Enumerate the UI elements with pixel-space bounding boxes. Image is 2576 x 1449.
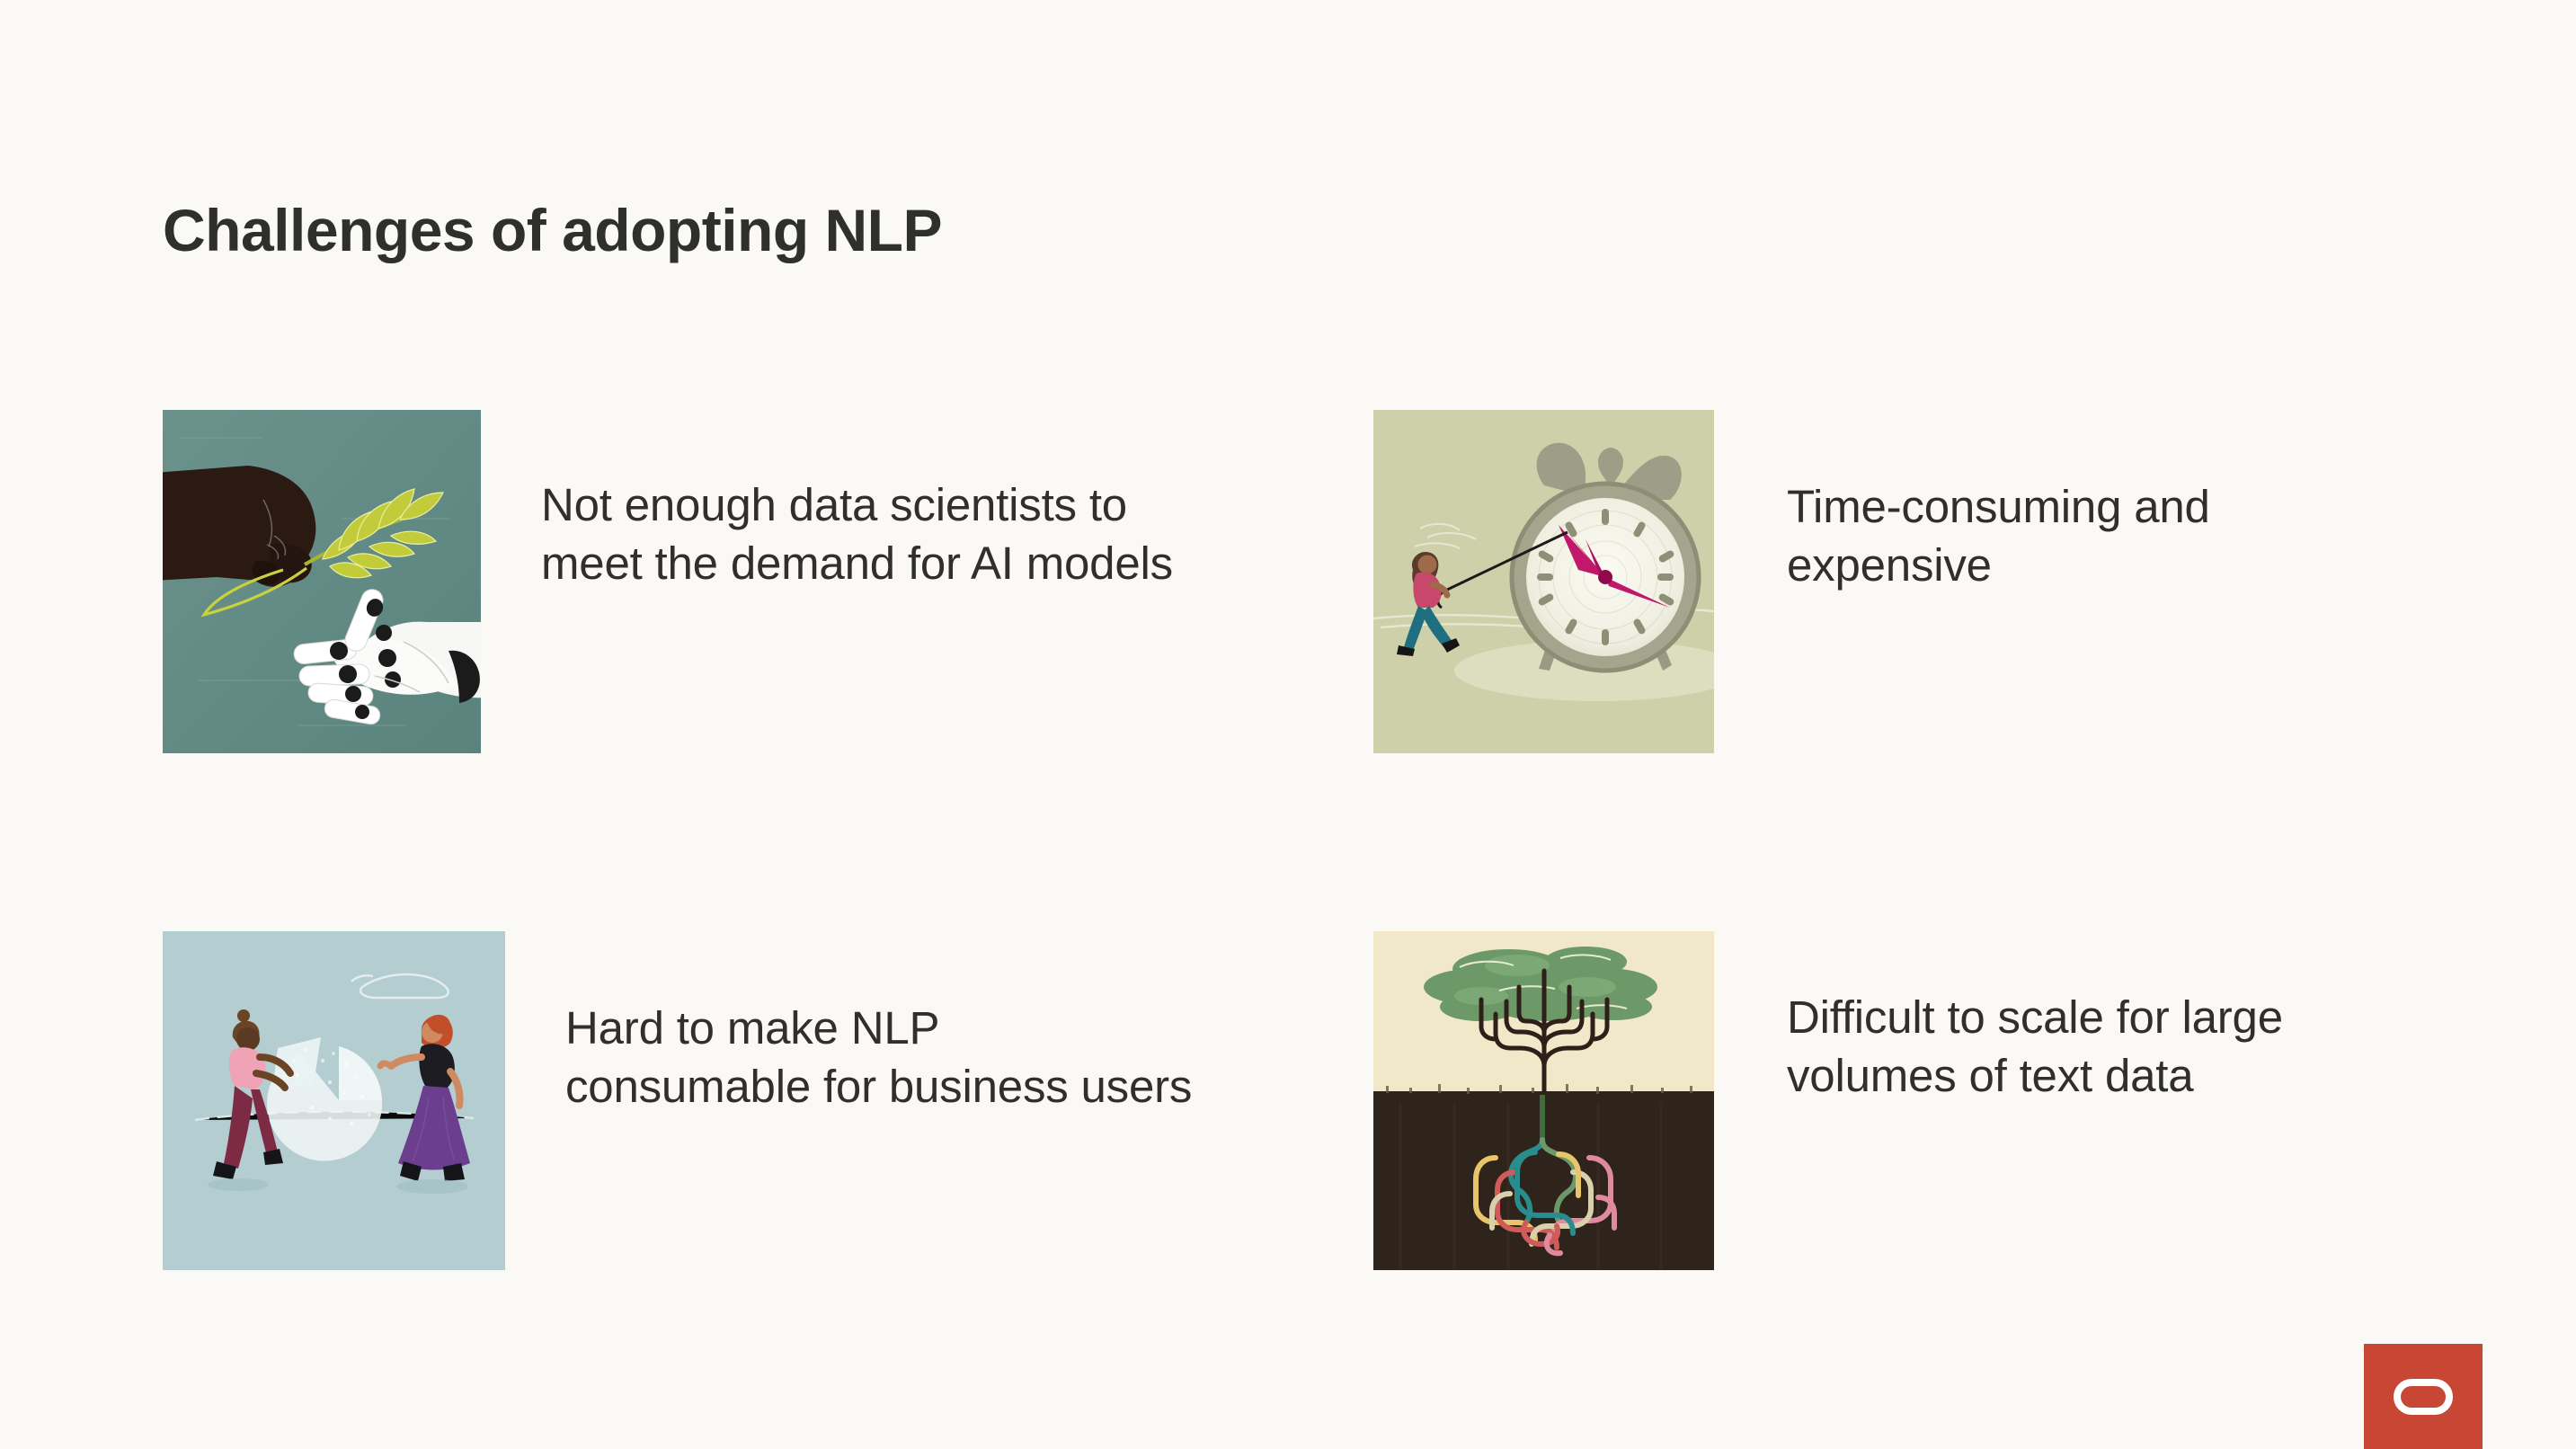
illustration-women-with-pie-chart bbox=[163, 931, 505, 1270]
challenge-item: Difficult to scale for large volumes of … bbox=[1373, 931, 2398, 1270]
challenge-text: Time-consuming and expensive bbox=[1787, 478, 2362, 595]
challenge-text: Difficult to scale for large volumes of … bbox=[1787, 989, 2398, 1106]
oracle-mark-icon bbox=[2394, 1379, 2453, 1415]
challenge-item: Not enough data scientists to meet the d… bbox=[163, 410, 1224, 753]
illustration-human-robot-hands bbox=[163, 410, 481, 753]
illustration-woman-pulling-clock bbox=[1373, 410, 1714, 753]
challenge-item: Hard to make NLP consumable for business… bbox=[163, 931, 1195, 1270]
page-title: Challenges of adopting NLP bbox=[163, 196, 942, 264]
illustration-tree-with-network-roots bbox=[1373, 931, 1714, 1270]
challenge-text: Not enough data scientists to meet the d… bbox=[541, 476, 1224, 593]
slide-canvas: Challenges of adopting NLP bbox=[0, 0, 2576, 1449]
challenge-item: Time-consuming and expensive bbox=[1373, 410, 2362, 753]
oracle-logo bbox=[2364, 1344, 2483, 1449]
challenge-text: Hard to make NLP consumable for business… bbox=[565, 1000, 1195, 1116]
